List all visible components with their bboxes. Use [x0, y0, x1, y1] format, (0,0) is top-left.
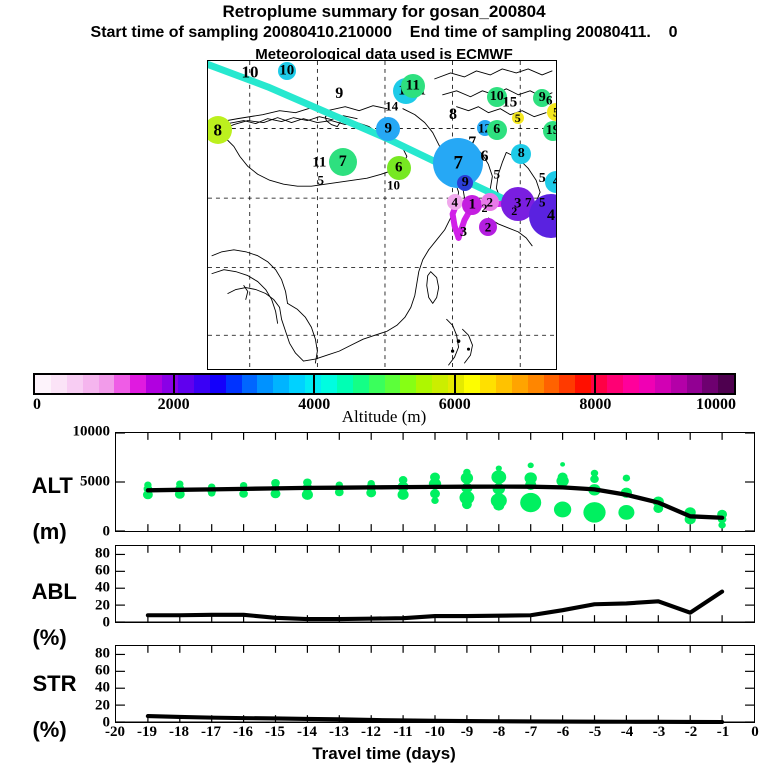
abl-chart[interactable]: [115, 545, 755, 623]
ytick-label: 60: [40, 563, 110, 580]
xtick-label: -1: [717, 724, 730, 741]
colorbar-swatch: [321, 375, 337, 393]
alt-scatter-point: [560, 462, 565, 467]
xtick-label: -3: [653, 724, 666, 741]
ytick-label: 20: [40, 697, 110, 714]
alt-scatter-point: [302, 490, 313, 500]
ytick-label: 80: [40, 645, 110, 662]
colorbar-swatch: [162, 375, 178, 393]
plume-marker-label: 5: [553, 106, 557, 119]
alt-scatter-point: [430, 489, 440, 498]
plume-marker-label: 11: [312, 156, 326, 171]
colorbar-swatch: [210, 375, 226, 393]
colorbar-swatch: [242, 375, 258, 393]
colorbar-swatch: [83, 375, 99, 393]
page-title: Retroplume summary for gosan_200804: [0, 2, 768, 22]
xtick-label: -17: [201, 724, 221, 741]
alt-scatter-point: [583, 502, 605, 522]
alt-scatter-point: [718, 522, 725, 529]
xtick-label: -6: [557, 724, 570, 741]
xaxis-tick-labels: -20-19-18-17-16-15-14-13-12-11-10-9-8-7-…: [0, 724, 768, 744]
colorbar-swatch: [146, 375, 162, 393]
xtick-label: -4: [621, 724, 634, 741]
plume-marker-label: 7: [454, 154, 464, 173]
plume-marker-label: 7: [339, 154, 347, 170]
colorbar-swatch: [544, 375, 560, 393]
colorbar-swatch: [416, 375, 432, 393]
xtick-label: -10: [425, 724, 445, 741]
xtick-label: -8: [493, 724, 506, 741]
plume-marker-label: 14: [385, 99, 398, 112]
plume-marker-label: 5: [515, 112, 521, 124]
colorbar-swatch: [51, 375, 67, 393]
xtick-label: -15: [265, 724, 285, 741]
colorbar-swatch: [400, 375, 416, 393]
ytick-label: 0: [40, 615, 110, 632]
colorbar-swatch: [130, 375, 146, 393]
plume-marker-label: 8: [518, 147, 525, 161]
plume-marker-label: 9: [385, 121, 393, 136]
colorbar-swatch: [480, 375, 496, 393]
colorbar-swatch: [718, 375, 734, 393]
colorbar-gradient: [33, 373, 736, 395]
colorbar-swatch: [257, 375, 273, 393]
colorbar-swatch: [114, 375, 130, 393]
plume-marker-label: 9: [539, 91, 546, 105]
colorbar-swatch: [623, 375, 639, 393]
colorbar-swatch: [639, 375, 655, 393]
ytick-label: 20: [40, 597, 110, 614]
abl-line: [148, 592, 722, 619]
colorbar-swatch: [273, 375, 289, 393]
str-chart[interactable]: [115, 645, 755, 723]
colorbar-swatch: [575, 375, 591, 393]
plume-marker-label: 11: [406, 79, 420, 94]
colorbar-swatch: [464, 375, 480, 393]
xaxis-title: Travel time (days): [0, 744, 768, 764]
sampling-times: Start time of sampling 20080410.210000 E…: [0, 24, 768, 42]
alt-scatter-point: [618, 505, 634, 520]
colorbar-swatch: [194, 375, 210, 393]
colorbar-swatch: [99, 375, 115, 393]
alt-scatter-point: [398, 490, 409, 500]
plume-marker-label: 9: [462, 176, 469, 190]
xtick-label: -7: [525, 724, 538, 741]
colorbar-swatch: [607, 375, 623, 393]
colorbar-swatch: [337, 375, 353, 393]
alt-scatter-point: [520, 493, 541, 512]
ytick-label: 40: [40, 680, 110, 697]
plume-marker-label: 3: [460, 226, 467, 240]
alt-scatter-point: [493, 500, 504, 510]
ytick-label: 40: [40, 580, 110, 597]
alt-scatter-point: [528, 462, 534, 468]
xtick-label: -18: [169, 724, 189, 741]
xtick-label: -5: [589, 724, 602, 741]
colorbar-swatch: [226, 375, 242, 393]
plume-marker-label: 6: [493, 123, 500, 137]
plume-marker-label: 5: [317, 174, 324, 187]
plume-marker-label: 6: [395, 160, 403, 175]
xtick-label: -9: [461, 724, 474, 741]
xtick-label: 0: [751, 724, 759, 741]
alt-scatter-point: [623, 475, 630, 482]
plume-marker-label: 15: [502, 95, 517, 110]
colorbar-swatch: [687, 375, 703, 393]
colorbar-title: Altitude (m): [0, 407, 768, 427]
colorbar-swatch: [369, 375, 385, 393]
plume-marker-label: 8: [214, 121, 223, 138]
ytick-label: 5000: [40, 474, 110, 491]
retroplume-map[interactable]: 1010913141189812111175671015659651976855…: [207, 60, 557, 370]
colorbar-swatch: [178, 375, 194, 393]
colorbar-separator: [313, 373, 315, 395]
xtick-label: -13: [329, 724, 349, 741]
plume-marker-label: 2: [485, 220, 492, 233]
plume-marker-label: 8: [449, 107, 457, 123]
colorbar-separator: [454, 373, 456, 395]
colorbar-separator: [173, 373, 175, 395]
colorbar-swatch: [655, 375, 671, 393]
alt-scatter-point: [590, 475, 599, 483]
xtick-label: -19: [137, 724, 157, 741]
plume-marker-label: 5: [494, 168, 501, 181]
alt-scatter-point: [366, 488, 376, 497]
colorbar-swatch: [432, 375, 448, 393]
alt-scatter-point: [462, 500, 472, 509]
colorbar-swatch: [67, 375, 83, 393]
colorbar-swatch: [702, 375, 718, 393]
plume-marker-label: 9: [335, 86, 343, 102]
plume-marker-label: 6: [481, 149, 489, 165]
plume-marker-label: 4: [452, 196, 459, 209]
alt-scatter-point: [461, 472, 473, 483]
colorbar-swatch: [289, 375, 305, 393]
plume-marker-label: 2: [511, 205, 517, 217]
ytick-label: 60: [40, 663, 110, 680]
alt-scatter-point: [491, 470, 506, 484]
plume-marker-label: 10: [242, 63, 259, 80]
colorbar-swatch: [559, 375, 575, 393]
plume-marker-label: 5: [539, 196, 546, 209]
colorbar-swatch: [385, 375, 401, 393]
xtick-label: -16: [233, 724, 253, 741]
colorbar-separator: [594, 373, 596, 395]
alt-scatter-point: [431, 497, 438, 504]
plume-marker-label: 2: [482, 202, 488, 214]
alt-chart[interactable]: [115, 432, 755, 532]
plume-marker-label: 19: [546, 124, 557, 138]
alt-scatter-point: [496, 465, 502, 471]
colorbar-swatch: [35, 375, 51, 393]
colorbar-swatch: [448, 375, 464, 393]
ytick-label: 80: [40, 545, 110, 562]
plume-marker-label: 4: [547, 208, 555, 224]
colorbar-swatch: [512, 375, 528, 393]
xtick-label: -11: [393, 724, 412, 741]
xtick-label: -14: [297, 724, 317, 741]
plume-marker-label: 10: [387, 179, 400, 192]
alt-scatter-point: [556, 475, 568, 486]
plume-marker-label: 10: [279, 63, 294, 78]
plume-marker-label: 4: [553, 175, 557, 189]
colorbar-swatch: [353, 375, 369, 393]
xtick-label: -12: [361, 724, 381, 741]
alt-scatter-point: [554, 501, 571, 517]
altitude-colorbar: [33, 373, 736, 395]
ytick-label: 10000: [40, 424, 110, 441]
plume-marker-label: 1: [469, 198, 477, 213]
ytick-label: 0: [40, 524, 110, 541]
xtick-label: -20: [105, 724, 125, 741]
colorbar-swatch: [528, 375, 544, 393]
xtick-label: -2: [685, 724, 698, 741]
colorbar-swatch: [671, 375, 687, 393]
colorbar-swatch: [496, 375, 512, 393]
